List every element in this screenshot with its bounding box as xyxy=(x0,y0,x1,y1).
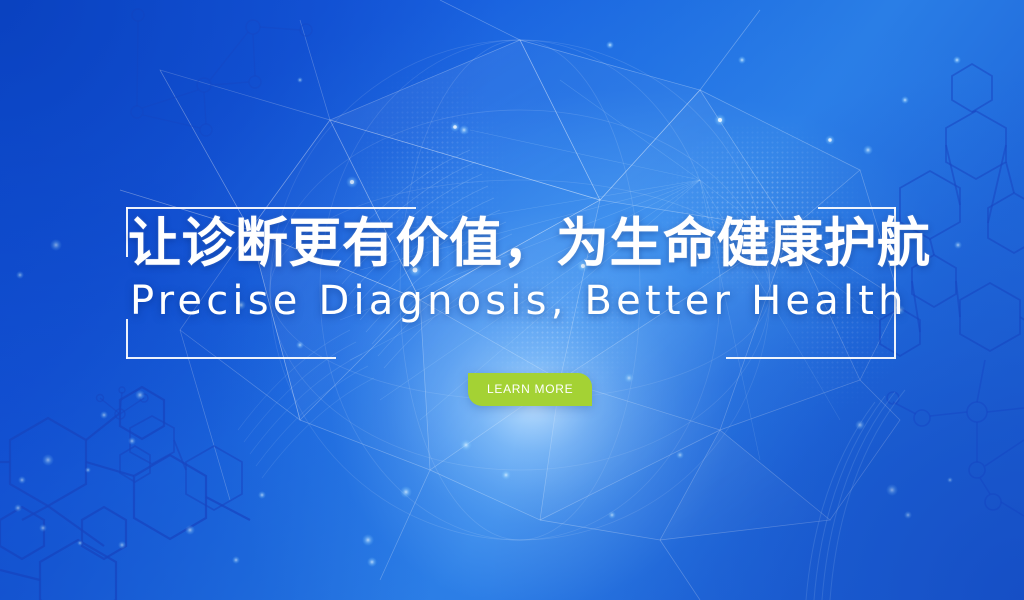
hero-banner: 让诊断更有价值，为生命健康护航 Precise Diagnosis, Bette… xyxy=(0,0,1024,600)
headline-block: 让诊断更有价值，为生命健康护航 Precise Diagnosis, Bette… xyxy=(128,216,918,323)
subheadline-english: Precise Diagnosis, Better Health xyxy=(130,279,918,323)
frame-top-left-line xyxy=(126,207,416,209)
frame-bottom-left-line xyxy=(126,357,336,359)
cta-container: LEARN MORE xyxy=(468,373,592,406)
frame-left-bottom-line xyxy=(126,319,128,359)
learn-more-button[interactable]: LEARN MORE xyxy=(468,373,592,406)
banner-content: 让诊断更有价值，为生命健康护航 Precise Diagnosis, Bette… xyxy=(0,0,1024,600)
frame-top-right-line xyxy=(818,207,896,209)
frame-bottom-right-line xyxy=(726,357,896,359)
headline-chinese: 让诊断更有价值，为生命健康护航 xyxy=(128,216,918,273)
